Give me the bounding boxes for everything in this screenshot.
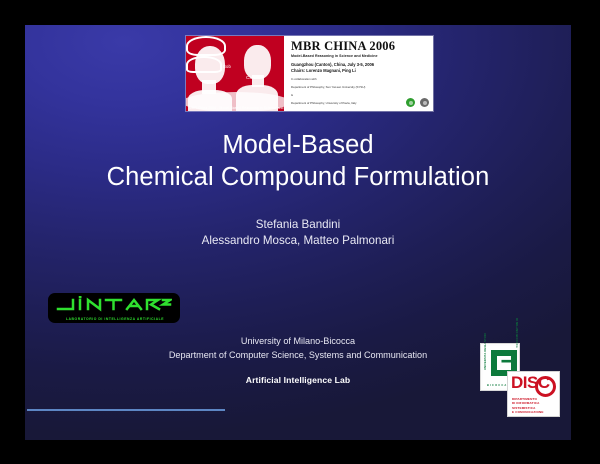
lintar-wordmark-icon [56, 296, 172, 312]
disco-subtitle: DIPARTIMENTO DI INFORMATICA SISTEMISTICA… [512, 397, 544, 414]
banner-collab-amp: & [291, 93, 428, 97]
chinese-figure-icon [244, 45, 271, 79]
title-line-2: Chemical Compound Formulation [25, 161, 571, 193]
banner-location-date: Guangzhou (Canton), China, July 3-5, 200… [291, 62, 428, 67]
banner-chairs: Chairs: Lorenzo Magnani, Ping Li [291, 68, 428, 73]
banner-subtitle: Model-Based Reasoning in Science and Med… [291, 54, 428, 58]
statue-figure-icon [195, 46, 225, 84]
author-line-1: Stefania Bandini [25, 217, 571, 233]
disco-subtitle-line-4: E COMUNICAZIONE [512, 410, 544, 414]
page-title: Model-Based Chemical Compound Formulatio… [25, 129, 571, 193]
organization-seal-green-icon [406, 98, 415, 107]
disco-ring-icon [535, 376, 556, 397]
conference-banner: Bob Carol MBR China 2006 - Model-Based R… [186, 36, 433, 111]
banner-label-carol: Carol [246, 75, 258, 80]
banner-collab-intro: In collaboration with [291, 77, 428, 81]
banner-caption: MBR China 2006 - Model-Based Reasoning i… [189, 106, 284, 110]
organization-seal-grey-icon [420, 98, 429, 107]
decorative-rule [27, 409, 225, 411]
lintar-subtitle: LABORATORIO DI INTELLIGENZA ARTIFICIALE [54, 317, 176, 321]
presentation-slide: Bob Carol MBR China 2006 - Model-Based R… [25, 25, 571, 440]
banner-badges [406, 98, 429, 107]
lintar-logo: LABORATORIO DI INTELLIGENZA ARTIFICIALE [48, 293, 180, 323]
banner-label-bob: Bob [223, 64, 231, 69]
banner-text-block: MBR CHINA 2006 Model-Based Reasoning in … [284, 36, 433, 111]
banner-collab-org1: Department of Philosophy, Sun Yat-sen Un… [291, 85, 428, 89]
authors-block: Stefania Bandini Alessandro Mosca, Matte… [25, 217, 571, 250]
unimib-text-bottom: BICOCCA [487, 384, 508, 387]
unimib-text-right: DI MILANO BICOCCA [515, 318, 518, 348]
slide-viewer: Bob Carol MBR China 2006 - Model-Based R… [0, 0, 600, 464]
unimib-text-left: UNIVERSITA DEGLI STUDI [484, 333, 487, 370]
banner-artwork: Bob Carol MBR China 2006 - Model-Based R… [186, 36, 284, 111]
disco-logo: DISC DIPARTIMENTO DI INFORMATICA SISTEMI… [507, 371, 560, 417]
banner-title: MBR CHINA 2006 [291, 40, 428, 53]
title-line-1: Model-Based [25, 129, 571, 161]
author-line-2: Alessandro Mosca, Matteo Palmonari [25, 233, 571, 249]
